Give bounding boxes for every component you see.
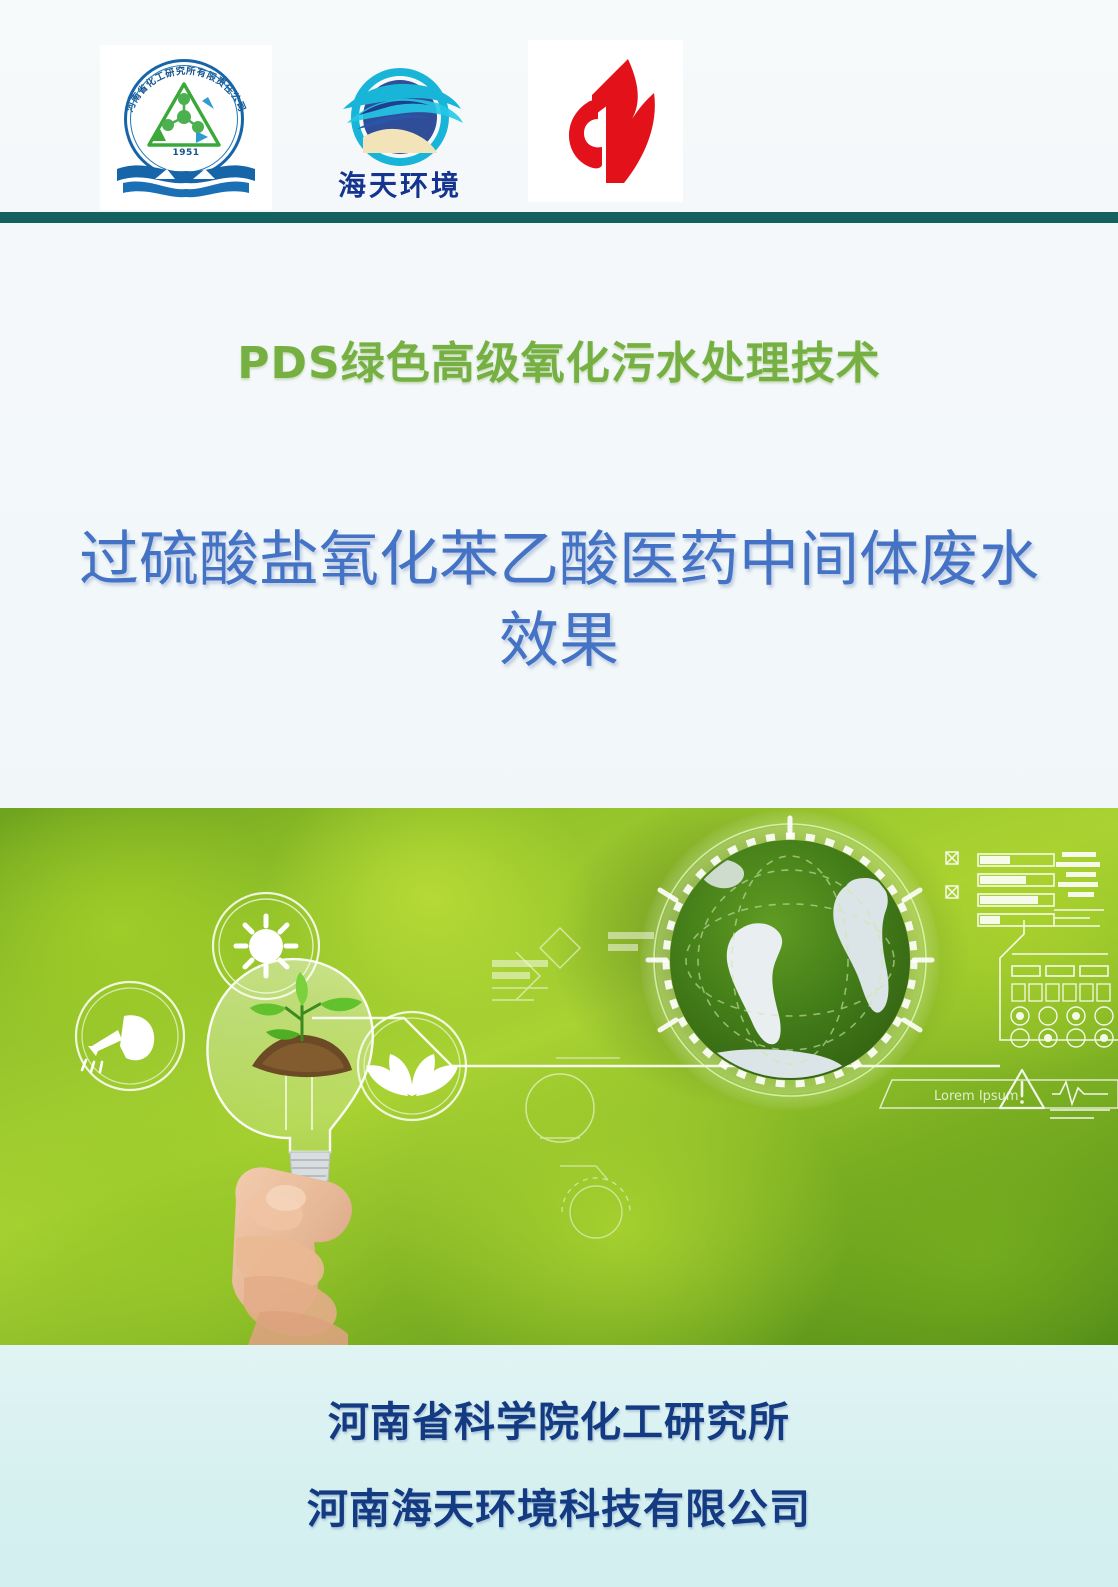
logo-band: 河南省化工研究所有限责任公司 — [0, 0, 1118, 213]
flame-icon — [550, 55, 662, 187]
recycle-molecule-icon — [144, 79, 224, 151]
seal-banner-waves-icon — [115, 157, 257, 201]
globe-icon-group — [640, 810, 940, 1110]
haitian-environment-label: 海天环境 — [338, 172, 462, 200]
red-flame-logo — [528, 40, 683, 202]
subtitle-green: PDS绿色高级氧化污水处理技术 — [0, 336, 1118, 391]
hud-label-text: Lorem Ipsum — [934, 1089, 1019, 1104]
footer-organization-line1: 河南省科学院化工研究所 — [328, 1402, 790, 1443]
hud-label-callout: Lorem Ipsum — [880, 1080, 1118, 1108]
leaf-icon-group — [358, 1012, 466, 1120]
slide-page: 河南省化工研究所有限责任公司 — [0, 0, 1118, 1587]
hero-image: Lorem Ipsum — [0, 808, 1118, 1345]
footer: 河南省科学院化工研究所 河南海天环境科技有限公司 — [0, 1345, 1118, 1587]
wave-circle-icon — [333, 65, 468, 170]
main-title-line1: 过硫酸盐氧化苯乙酸医药中间体废水 — [79, 525, 1039, 595]
main-title: 过硫酸盐氧化苯乙酸医药中间体废水 效果 — [28, 520, 1090, 682]
header-divider — [0, 212, 1118, 223]
watering-can-icon-group — [76, 982, 184, 1090]
footer-organization-line2: 河南海天环境科技有限公司 — [307, 1489, 811, 1530]
haitian-environment-logo: 海天环境 — [310, 55, 490, 210]
henan-chemical-institute-seal-logo: 河南省化工研究所有限责任公司 — [100, 45, 272, 210]
main-title-line2: 效果 — [28, 601, 1090, 682]
hero-graphics: Lorem Ipsum — [0, 808, 1118, 1345]
